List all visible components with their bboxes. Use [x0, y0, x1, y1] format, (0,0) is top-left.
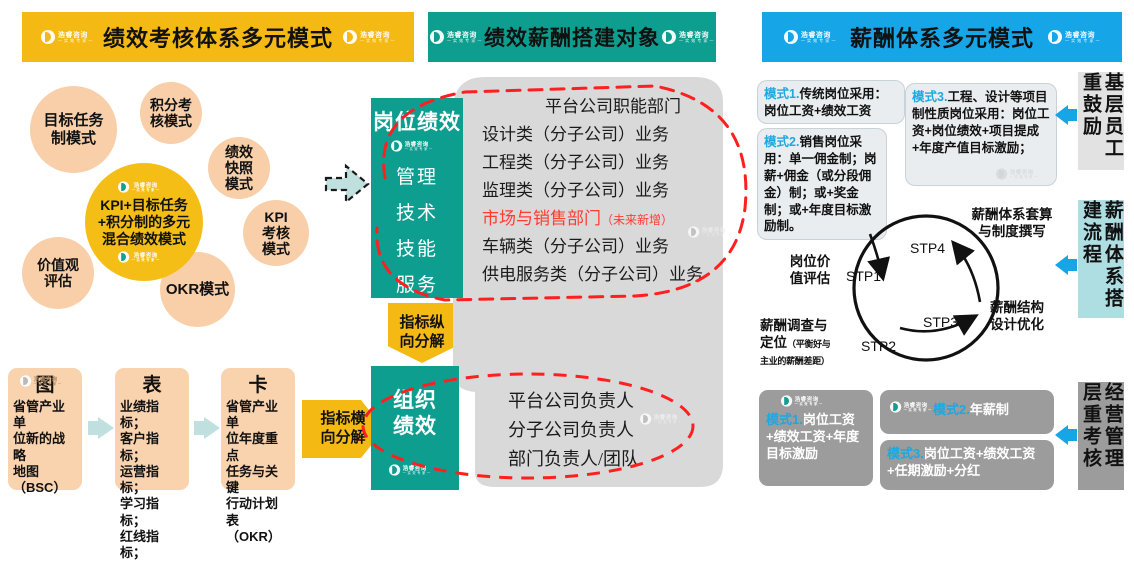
- salary-mode-1-bottom[interactable]: 浩睿咨询一 实 效 专 家 一 模式1.岗位工资+绩效工资+年度目标激励: [759, 390, 873, 486]
- salary-mode-3-top[interactable]: 模式3.工程、设计等项目制性质岗位采用：岗位工资+岗位绩效+项目提成+年度产值目…: [905, 83, 1057, 186]
- brand-logo-icon: 浩睿咨询一 实 效 专 家 一: [890, 401, 932, 412]
- blue-arrow-2: [1055, 255, 1077, 275]
- flow-step-card[interactable]: 卡 省管产业单位年度重点任务与关键行动计划表（OKR）: [221, 368, 295, 490]
- bubble-label: 积分考核模式: [150, 97, 192, 129]
- bubble-performance-snapshot-mode[interactable]: 绩效快照模式: [208, 137, 270, 199]
- flow-step-table[interactable]: 表 业绩指标；客户指标；运营指标；学习指标；红线指标；: [115, 368, 189, 490]
- salary-mode-2-bottom[interactable]: 浩睿咨询一 实 效 专 家 一 模式2.年薪制: [880, 390, 1054, 434]
- brand-logo-icon: 浩睿咨询一 实 效 专 家 一: [118, 181, 160, 192]
- bubble-label: 绩效快照模式: [225, 144, 253, 192]
- mode-tag: 模式1.: [766, 412, 803, 427]
- mode-tag: 模式1.: [764, 87, 799, 101]
- salary-mode-3-bottom[interactable]: 模式3.岗位工资+绩效工资+任期激励+分红: [880, 440, 1054, 490]
- bubble-label: 目标任务制模式: [43, 112, 103, 147]
- brand-logo-icon: 浩睿咨询一 实 效 专 家 一: [41, 30, 93, 44]
- mode-tag: 模式3.: [912, 90, 947, 104]
- blue-arrow-1: [1055, 105, 1077, 125]
- brand-logo-icon: 浩睿咨询一 实 效 专 家 一: [996, 168, 1038, 179]
- mode-tag: 模式2.: [933, 402, 970, 417]
- bubble-values-assessment[interactable]: 价值观评估: [22, 237, 94, 309]
- cycle-step-stp1: STP1: [846, 268, 881, 284]
- banner-performance-appraisal: 浩睿咨询一 实 效 专 家 一 绩效考核体系多元模式 浩睿咨询一 实 效 专 家…: [22, 12, 414, 62]
- bubble-line-1: KPI+目标任务: [100, 197, 188, 213]
- brand-logo-icon: 浩睿咨询一 实 效 专 家 一: [118, 252, 160, 263]
- flow-step-map[interactable]: 图 省管产业单位新的战略地图（BSC） 浩睿咨询一 实 效 专 家 一: [8, 368, 82, 490]
- flow-step-head: 卡: [226, 374, 290, 398]
- bubble-target-task-mode[interactable]: 目标任务制模式: [30, 86, 117, 173]
- bubble-points-appraisal-mode[interactable]: 积分考核模式: [140, 82, 202, 144]
- cycle-step-stp3: STP3: [923, 314, 958, 330]
- flow-arrow-1: [88, 417, 114, 439]
- flow-step-head: 表: [120, 374, 184, 398]
- bubble-label: 价值观评估: [37, 257, 79, 289]
- highlight-ellipse-post: [355, 78, 775, 328]
- bubble-label: OKR模式: [166, 281, 229, 298]
- side-label-process: 薪酬体系搭建流程: [1078, 200, 1124, 318]
- flow-step-body: 业绩指标；客户指标；运营指标；学习指标；红线指标；: [120, 399, 184, 561]
- cycle-label-structure-design: 薪酬结构设计优化: [975, 300, 1059, 334]
- side-label-frontline: 基层员工重鼓励: [1078, 72, 1124, 170]
- banner-title: 绩效考核体系多元模式: [103, 21, 333, 53]
- brand-logo-icon: 浩睿咨询一 实 效 专 家 一: [781, 395, 823, 406]
- brand-logo-icon: 浩睿咨询一 实 效 专 家 一: [784, 30, 836, 44]
- highlight-ellipse-org: [358, 368, 698, 493]
- flow-step-body: 省管产业单位年度重点任务与关键行动计划表（OKR）: [226, 399, 290, 545]
- blue-arrow-3: [1055, 425, 1077, 445]
- bubble-hybrid-performance-mode[interactable]: 浩睿咨询一 实 效 专 家 一 KPI+目标任务 +积分制的多元 混合绩效模式 …: [85, 163, 203, 281]
- cycle-step-stp4: STP4: [910, 240, 945, 256]
- cycle-label-salary-survey: 薪酬调查与定位（平衡好与主业的薪酬差距）: [760, 318, 865, 369]
- cycle-label-system-calc: 薪酬体系套算与制度撰写: [960, 207, 1064, 241]
- cycle-label-job-value: 岗位价值评估: [775, 254, 845, 288]
- banner-title: 绩效薪酬搭建对象: [484, 22, 660, 52]
- side-label-management: 经营管理层重考核: [1078, 382, 1124, 490]
- mode-text: 年薪制: [970, 402, 1009, 417]
- brand-logo-icon: 浩睿咨询一 实 效 专 家 一: [343, 30, 395, 44]
- bubble-label: KPI考核模式: [262, 209, 290, 257]
- salary-mode-1-top[interactable]: 模式1.传统岗位采用：岗位工资+绩效工资: [757, 80, 905, 124]
- bubble-line-3: 混合绩效模式: [102, 231, 186, 247]
- banner-salary-objects: 浩睿咨询一 实 效 专 家 一 绩效薪酬搭建对象 浩睿咨询一 实 效 专 家 一: [428, 12, 716, 62]
- brand-logo-icon: 浩睿咨询一 实 效 专 家 一: [662, 30, 714, 44]
- brand-logo-icon: 浩睿咨询一 实 效 专 家 一: [1048, 30, 1100, 44]
- brand-logo-icon: 浩睿咨询一 实 效 专 家 一: [430, 30, 482, 44]
- flow-step-body: 省管产业单位新的战略地图（BSC）: [13, 399, 77, 497]
- mode-tag: 模式3.: [887, 446, 924, 461]
- brand-logo-icon: 浩睿咨询一 实 效 专 家 一: [20, 375, 62, 386]
- banner-salary-modes: 浩睿咨询一 实 效 专 家 一 薪酬体系多元模式 浩睿咨询一 实 效 专 家 一: [762, 12, 1122, 62]
- banner-title: 薪酬体系多元模式: [850, 21, 1034, 53]
- cycle-step-stp2: STP2: [861, 338, 896, 354]
- bubble-line-2: +积分制的多元: [98, 214, 190, 230]
- bubble-kpi-appraisal-mode[interactable]: KPI考核模式: [243, 200, 309, 266]
- flow-arrow-2: [194, 417, 220, 439]
- mode-tag: 模式2.: [764, 135, 799, 149]
